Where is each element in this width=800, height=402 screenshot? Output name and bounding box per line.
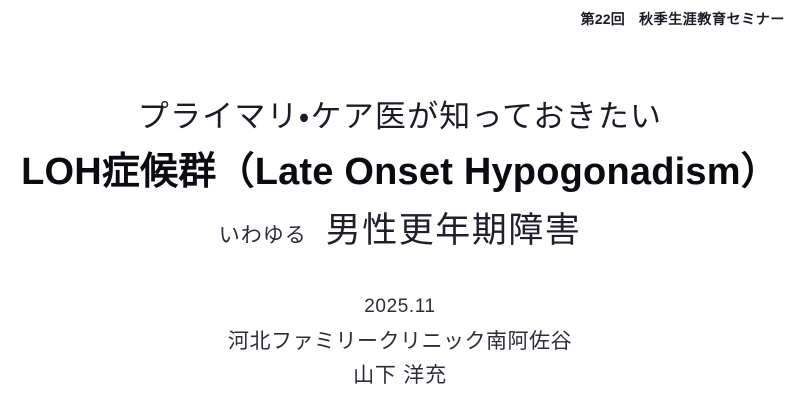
title-block: プライマリ・ケア医が知っておきたい LOH症候群（Late Onset Hypo…	[0, 98, 800, 253]
title-subtitle: いわゆる 男性更年期障害	[0, 209, 800, 253]
subtitle-main: 男性更年期障害	[326, 211, 582, 250]
subtitle-prefix: いわゆる	[219, 224, 307, 247]
credits-block: 2025.11 河北ファミリークリニック南阿佐谷 山下 洋充	[0, 293, 800, 390]
slide-header: 第22回 秋季生涯教育セミナー	[581, 9, 785, 29]
presentation-title-slide: 第22回 秋季生涯教育セミナー プライマリ・ケア医が知っておきたい LOH症候群…	[0, 0, 800, 402]
seminar-name-label: 秋季生涯教育セミナー	[639, 9, 785, 29]
organization-name: 河北ファミリークリニック南阿佐谷	[0, 327, 800, 356]
presenter-name: 山下 洋充	[0, 361, 800, 390]
page-title: LOH症候群（Late Onset Hypogonadism）	[0, 149, 800, 195]
seminar-sequence-label: 第22回	[581, 9, 625, 29]
presentation-date: 2025.11	[0, 293, 800, 321]
title-kicker: プライマリ・ケア医が知っておきたい	[0, 98, 800, 137]
